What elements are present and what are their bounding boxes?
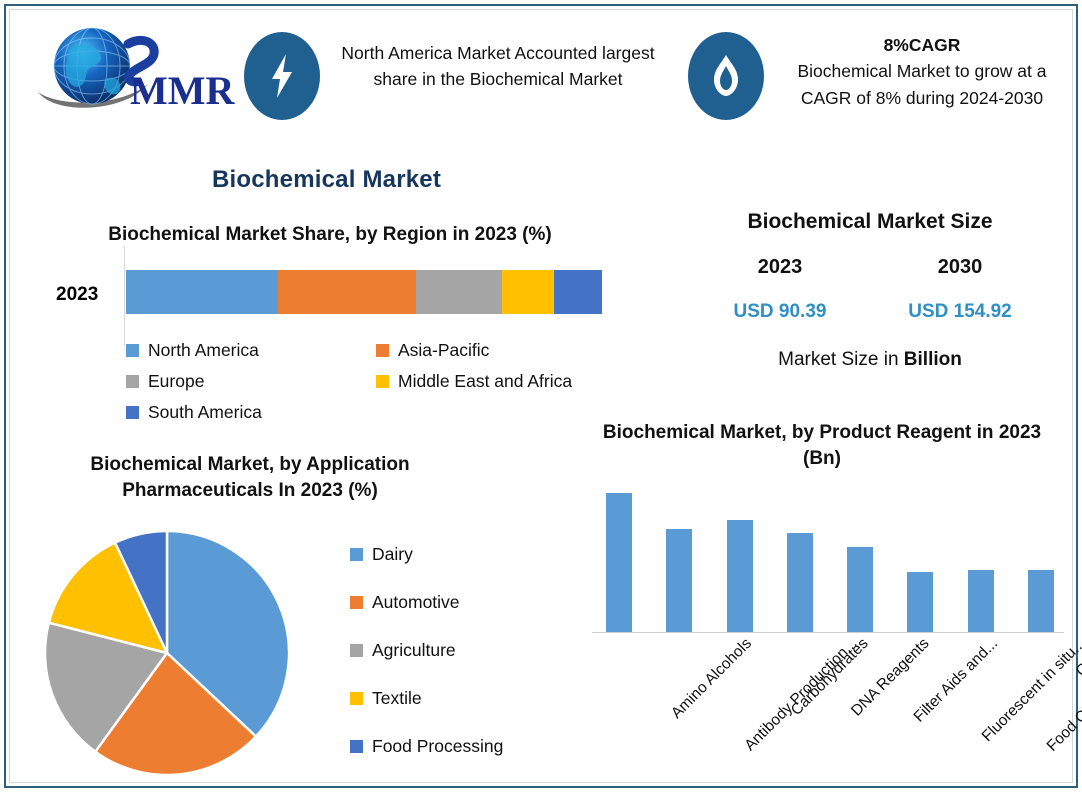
kpi-cagr-text: 8%CAGR Biochemical Market to grow at a C… [782, 32, 1062, 111]
header-bar: MMR North America Market Accounted large… [12, 12, 1070, 144]
kpi-north-america: North America Market Accounted largest s… [244, 32, 664, 120]
legend-swatch-icon [350, 692, 363, 705]
legend-label: Dairy [372, 544, 413, 565]
legend-label: Asia-Pacific [398, 340, 489, 361]
market-size-col-2030: 2030 USD 154.92 [870, 256, 1050, 323]
kpi-north-america-text: North America Market Accounted largest s… [338, 32, 658, 93]
legend-swatch-icon [350, 548, 363, 561]
region-plot-area: 2023 [20, 262, 640, 328]
globe-logo-icon: MMR [30, 20, 240, 120]
svg-text:MMR: MMR [130, 68, 236, 113]
column-bars [606, 483, 1054, 633]
legend-item: Textile [350, 688, 560, 709]
legend-item: Automotive [350, 592, 560, 613]
product-reagent-chart: Biochemical Market, by Product Reagent i… [572, 420, 1072, 785]
legend-label: Europe [148, 371, 204, 392]
pie-graphic [42, 528, 292, 778]
column-chart-title: Biochemical Market, by Product Reagent i… [572, 420, 1072, 471]
market-size-unit-prefix: Market Size in [778, 349, 904, 370]
region-segment [554, 270, 602, 314]
legend-item: Middle East and Africa [376, 371, 626, 392]
legend-item: Asia-Pacific [376, 340, 626, 361]
region-share-chart: Biochemical Market Share, by Region in 2… [20, 222, 640, 442]
market-size-year-left: 2023 [690, 256, 870, 279]
mmr-logo: MMR [30, 20, 240, 120]
legend-swatch-icon [350, 596, 363, 609]
market-size-value-left: USD 90.39 [690, 301, 870, 323]
kpi-cagr: 8%CAGR Biochemical Market to grow at a C… [688, 32, 1068, 120]
market-size-col-2023: 2023 USD 90.39 [690, 256, 870, 323]
kpi-cagr-heading: 8%CAGR [782, 32, 1062, 58]
infographic-canvas: MMR North America Market Accounted large… [0, 0, 1082, 792]
market-size-year-right: 2030 [870, 256, 1050, 279]
legend-swatch-icon [376, 375, 389, 388]
page-title: Biochemical Market [212, 166, 441, 194]
legend-swatch-icon [126, 406, 139, 419]
region-category-label: 2023 [56, 284, 98, 306]
legend-label: Food Processing [372, 736, 503, 757]
legend-item: Food Processing [350, 736, 560, 757]
column-bar [907, 572, 933, 633]
legend-item: Agriculture [350, 640, 560, 661]
legend-label: Middle East and Africa [398, 371, 572, 392]
market-size-unit-value: Billion [904, 349, 962, 370]
column-bar [727, 520, 753, 634]
region-segment [416, 270, 502, 314]
region-segment [278, 270, 416, 314]
market-size-title: Biochemical Market Size [664, 210, 1076, 234]
column-bar [968, 570, 994, 633]
legend-label: South America [148, 402, 262, 423]
legend-swatch-icon [126, 375, 139, 388]
legend-label: Agriculture [372, 640, 456, 661]
region-axis-line [124, 246, 125, 346]
legend-swatch-icon [350, 740, 363, 753]
column-baseline-axis [592, 632, 1064, 633]
column-bar [787, 533, 813, 634]
legend-swatch-icon [350, 644, 363, 657]
pie-legend: DairyAutomotiveAgricultureTextileFood Pr… [350, 544, 560, 784]
legend-item: South America [126, 402, 376, 423]
legend-swatch-icon [376, 344, 389, 357]
column-bar [666, 529, 692, 633]
market-size-years: 2023 USD 90.39 2030 USD 154.92 [664, 256, 1076, 323]
region-legend: North AmericaAsia-PacificEuropeMiddle Ea… [126, 340, 626, 433]
application-pie-chart: Biochemical Market, by Application Pharm… [20, 452, 560, 782]
column-category-labels: Amino AlcoholsAntibody Production...Carb… [572, 635, 1072, 792]
region-segment [126, 270, 278, 314]
market-size-panel: Biochemical Market Size 2023 USD 90.39 2… [664, 210, 1076, 390]
region-stacked-bar [126, 270, 602, 314]
legend-item: Dairy [350, 544, 560, 565]
region-segment [502, 270, 554, 314]
pie-chart-title: Biochemical Market, by Application Pharm… [20, 452, 480, 503]
legend-label: North America [148, 340, 259, 361]
legend-item: Europe [126, 371, 376, 392]
lightning-bolt-icon [244, 32, 320, 120]
kpi-cagr-body: Biochemical Market to grow at a CAGR of … [798, 61, 1047, 107]
column-plot-area [572, 483, 1072, 633]
legend-label: Automotive [372, 592, 460, 613]
region-chart-title: Biochemical Market Share, by Region in 2… [20, 222, 640, 248]
flame-glyph [711, 53, 741, 99]
flame-icon [688, 32, 764, 120]
bolt-glyph [267, 52, 297, 100]
column-bar [847, 547, 873, 634]
legend-label: Textile [372, 688, 422, 709]
column-category-label: Amino Alcohols [668, 635, 756, 723]
column-bar [606, 493, 632, 633]
legend-swatch-icon [126, 344, 139, 357]
market-size-unit: Market Size in Billion [664, 349, 1076, 371]
legend-item: North America [126, 340, 376, 361]
pie-plot-area [42, 528, 292, 778]
column-bar [1028, 570, 1054, 633]
market-size-value-right: USD 154.92 [870, 301, 1050, 323]
